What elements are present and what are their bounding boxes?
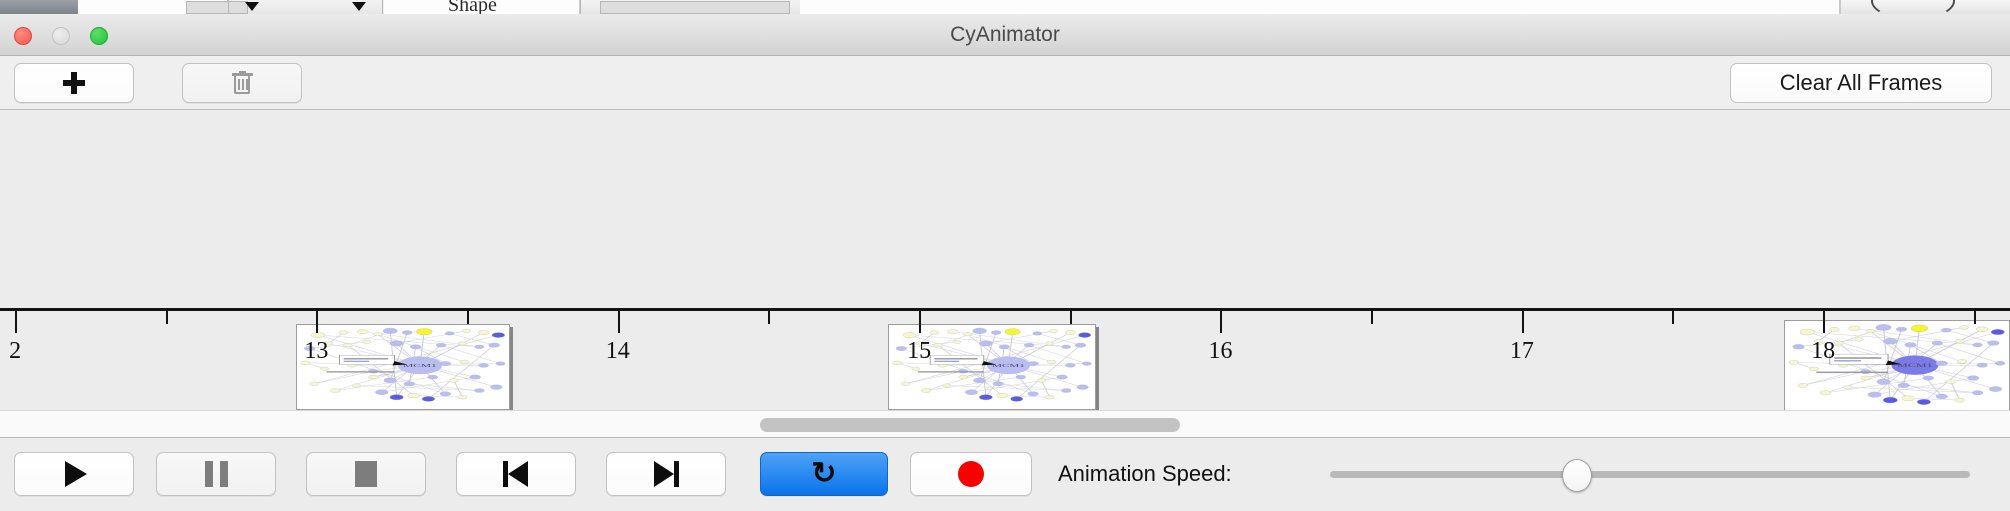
tick-label: 14: [606, 338, 630, 365]
timeline-axis: [0, 308, 2010, 311]
bg-segment: [800, 0, 1840, 14]
bg-tool-box: [600, 1, 790, 14]
svg-text:MCM1: MCM1: [403, 363, 437, 368]
loop-icon: ↻: [811, 459, 836, 489]
frame-thumbnail[interactable]: MCM1: [296, 324, 510, 410]
tick-minor: [1672, 311, 1674, 324]
bg-arc-decoration: [1871, 0, 1955, 14]
window-title: CyAnimator: [0, 14, 2010, 56]
timeline-panel[interactable]: MCM1MCM1MCM1 2131415161718 Seconds: [0, 110, 2010, 410]
svg-text:MCM1: MCM1: [1897, 363, 1933, 368]
add-frame-button[interactable]: [14, 63, 134, 103]
tick-label: 15: [907, 338, 931, 365]
tick-minor: [1371, 311, 1373, 324]
stop-icon: [355, 461, 377, 487]
bg-divider: [580, 0, 581, 14]
tick-major: [1220, 311, 1222, 333]
pause-icon: [205, 461, 228, 487]
skip-forward-icon: [653, 461, 679, 487]
bg-divider: [382, 0, 383, 14]
scrollbar-thumb[interactable]: [760, 418, 1180, 432]
slider-thumb[interactable]: [1562, 459, 1592, 492]
tick-label: 13: [304, 338, 328, 365]
bg-tool-box: [186, 1, 248, 14]
trash-icon: [232, 71, 253, 95]
tick-minor: [166, 311, 168, 324]
tick-label: 2: [9, 338, 21, 365]
stop-button[interactable]: [306, 452, 426, 496]
bg-caret-icon: [245, 2, 259, 11]
svg-text:MCM1: MCM1: [992, 363, 1025, 368]
bg-divider: [228, 0, 229, 14]
record-icon: [958, 461, 984, 487]
background-window-strip: Shape: [0, 0, 2010, 14]
network-graph: MCM1: [297, 325, 509, 409]
bg-caret-icon: [352, 2, 366, 11]
tick-minor: [1070, 311, 1072, 324]
pause-button[interactable]: [156, 452, 276, 496]
tick-major: [316, 311, 318, 333]
skip-to-start-button[interactable]: [456, 452, 576, 496]
toolbar: Clear All Frames: [0, 56, 2010, 110]
network-graph: MCM1: [1785, 321, 2009, 413]
tick-minor: [768, 311, 770, 324]
skip-to-end-button[interactable]: [606, 452, 726, 496]
tick-label: 16: [1208, 338, 1232, 365]
tick-major: [1823, 311, 1825, 333]
background-window-label: Shape: [448, 0, 497, 14]
tick-minor: [1974, 311, 1976, 324]
tick-major: [919, 311, 921, 333]
loop-button[interactable]: ↻: [760, 452, 888, 496]
play-button[interactable]: [14, 452, 134, 496]
bg-dark-segment: [0, 0, 78, 14]
cyanimator-window: Shape CyAnimator Clear All Frames MCM1MC…: [0, 0, 2010, 510]
tick-major: [15, 311, 17, 333]
animation-speed-slider[interactable]: [1330, 452, 1970, 496]
bg-right-panel: [1840, 0, 2010, 14]
frame-thumbnail[interactable]: MCM1: [1784, 320, 2010, 414]
record-button[interactable]: [910, 452, 1032, 496]
tick-major: [1522, 311, 1524, 333]
play-icon: [65, 461, 87, 487]
slider-track: [1330, 471, 1970, 478]
tick-minor: [467, 311, 469, 324]
clear-all-frames-button[interactable]: Clear All Frames: [1730, 63, 1992, 103]
skip-back-icon: [503, 461, 529, 487]
animation-speed-label: Animation Speed:: [1058, 452, 1232, 496]
tick-major: [618, 311, 620, 333]
title-bar: CyAnimator: [0, 14, 2010, 56]
tick-label: 18: [1811, 338, 1835, 365]
timeline-scrollbar[interactable]: [0, 410, 2010, 438]
plus-icon: [63, 72, 85, 94]
frame-thumbnail[interactable]: MCM1: [888, 324, 1096, 410]
delete-frame-button[interactable]: [182, 63, 302, 103]
tick-label: 17: [1510, 338, 1534, 365]
transport-bar: ↻ Animation Speed:: [0, 438, 2010, 510]
